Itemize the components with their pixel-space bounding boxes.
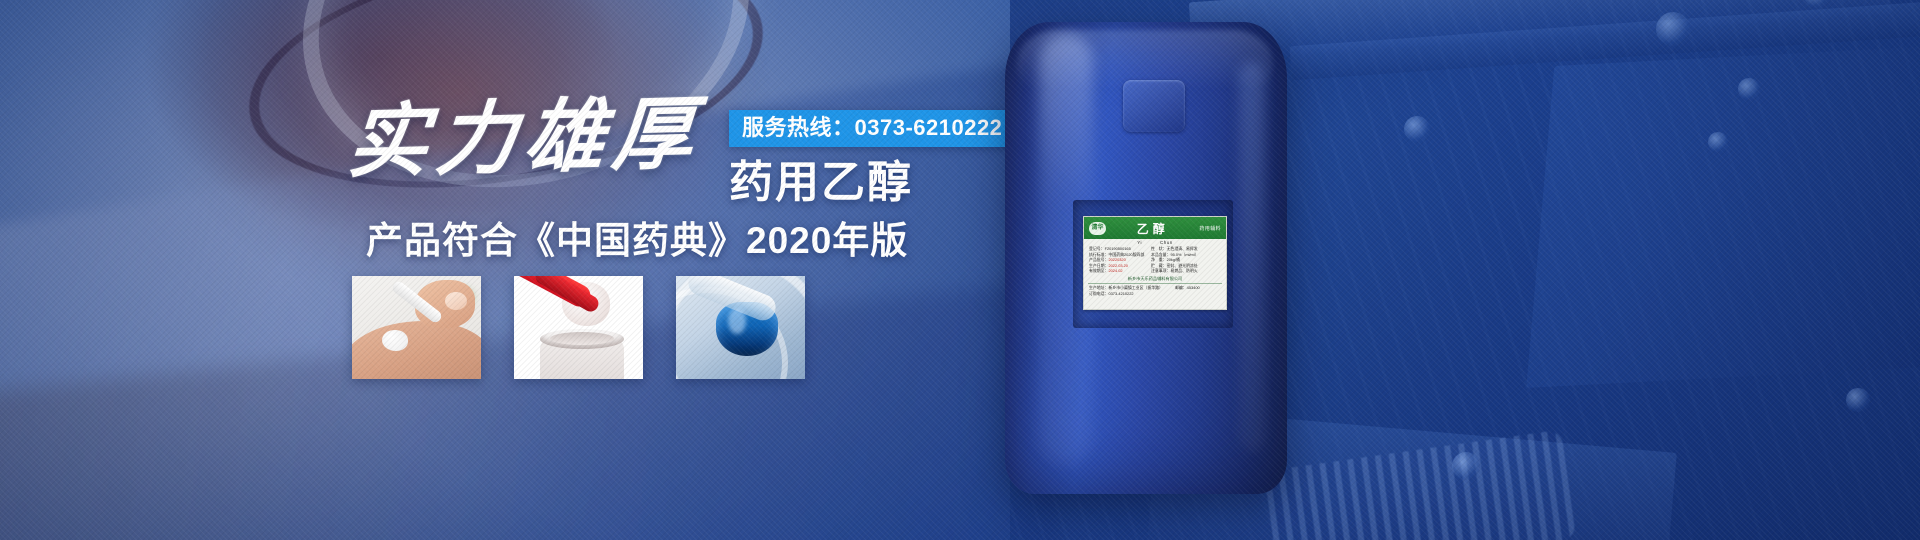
- product-drum: 清华 乙醇 药用辅料 Yi Chun 登记号：F20190500165 性 状：…: [1005, 22, 1305, 522]
- thumbnail-blue-liquid-droplet-lab-glass[interactable]: [676, 276, 805, 379]
- product-label-header: 清华 乙醇 药用辅料: [1084, 217, 1226, 239]
- drum-body: 清华 乙醇 药用辅料 Yi Chun 登记号：F20190500165 性 状：…: [1005, 22, 1287, 494]
- calligraphy-headline-text: 实力雄厚: [344, 76, 744, 198]
- calligraphy-headline: 实力雄厚: [348, 86, 738, 206]
- thumbnail-image: [514, 276, 643, 379]
- service-hotline-badge[interactable]: 服务热线：0373-6210222: [729, 110, 1015, 147]
- label-cell: [1175, 291, 1221, 297]
- label-row: 订购电话：0373-4210222: [1089, 291, 1221, 297]
- thumbnail-image: [676, 276, 805, 379]
- product-label-spec-rows: 登记号：F20190500165 性 状：无色澄清、易挥发 执行标准：中国药典2…: [1084, 245, 1226, 274]
- label-cell: 有效期至：2024.02: [1089, 268, 1151, 274]
- vignette-overlay: [0, 0, 1920, 540]
- thumbnail-image: [352, 276, 481, 379]
- drum-highlight-secondary: [1239, 62, 1265, 452]
- thumbnail-cream-applied-on-hand[interactable]: [352, 276, 481, 379]
- label-row: 有效期至：2024.02 注意事项：易燃品、防明火: [1089, 268, 1221, 274]
- product-label-footer: 生产地址：新乡市小冀镇工业区（振华路） 邮编：453400 订购电话：0373-…: [1084, 284, 1226, 297]
- product-name-heading: 药用乙醇: [729, 158, 913, 208]
- pinyin-first: Yi: [1137, 240, 1142, 245]
- banner-subtitle: 产品符合《中国药典》2020年版: [366, 219, 908, 263]
- product-label-corner-tag: 药用辅料: [1199, 225, 1221, 232]
- pinyin-second: Chun: [1160, 240, 1173, 245]
- product-label-title: 乙醇: [1111, 220, 1194, 237]
- product-label-company: 新乡市天乐药品辅料有限公司: [1088, 275, 1222, 284]
- brand-logo-icon: 清华: [1089, 222, 1106, 235]
- service-hotline-text: 服务热线：0373-6210222: [742, 115, 1002, 140]
- product-label: 清华 乙醇 药用辅料 Yi Chun 登记号：F20190500165 性 状：…: [1083, 216, 1227, 310]
- promo-banner: 实力雄厚 服务热线：0373-6210222 药用乙醇 产品符合《中国药典》20…: [0, 0, 1920, 540]
- drum-cap: [1123, 80, 1185, 132]
- label-cell: 订购电话：0373-4210222: [1089, 291, 1175, 297]
- thumbnail-red-applicator-and-white-jar[interactable]: [514, 276, 643, 379]
- label-cell: 注意事项：易燃品、防明火: [1151, 268, 1221, 274]
- thumbnail-row: [352, 276, 805, 379]
